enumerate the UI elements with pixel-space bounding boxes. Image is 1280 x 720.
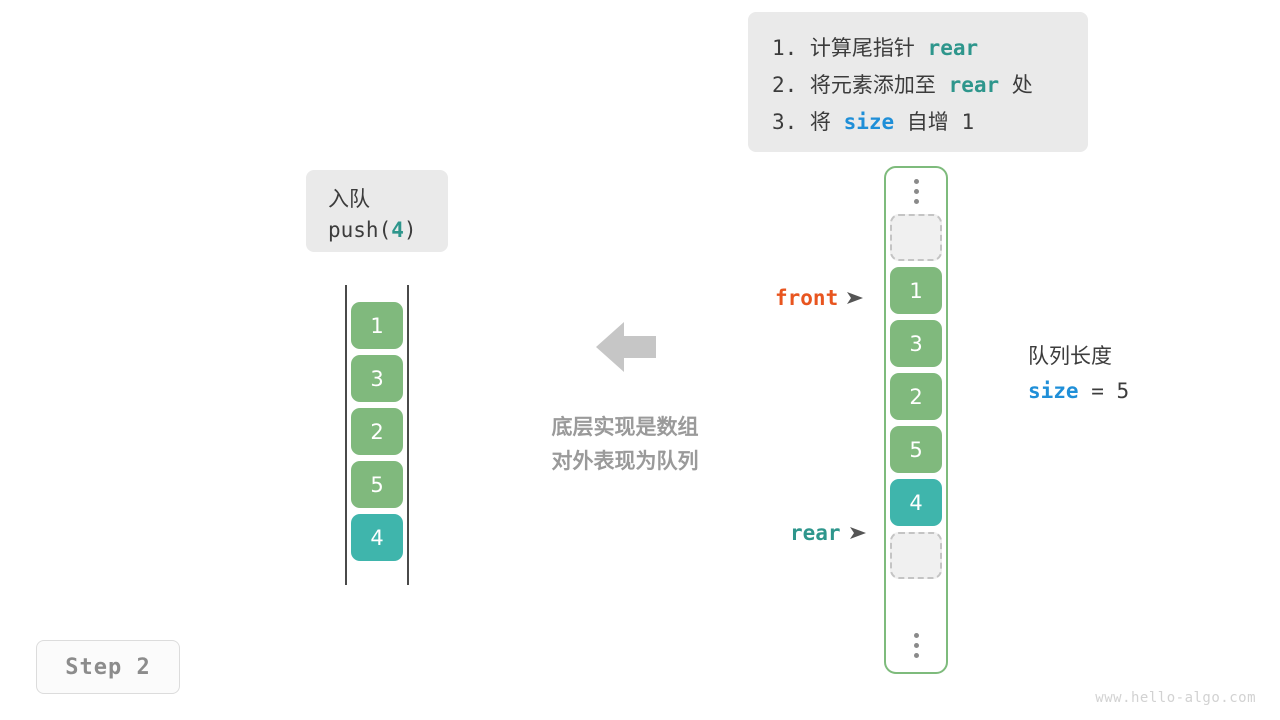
step-badge: Step 2 [36,640,180,694]
center-caption-line-2: 对外表现为队列 [510,444,740,478]
center-caption-line-1: 底层实现是数组 [510,410,740,444]
rear-pointer-label: rear [790,521,841,545]
watermark: www.hello-algo.com [1095,690,1256,706]
size-note: 队列长度 size = 5 [1028,340,1248,410]
queue-cell: 2 [351,408,403,455]
arrow-right-icon [846,291,864,305]
arrow-left-icon [596,320,656,374]
queue-rail-right [407,285,409,585]
queue-cell-new: 4 [351,514,403,561]
diagram-canvas: 1. 计算尾指针 rear 2. 将元素添加至 rear 处 3. 将 size… [0,0,1280,720]
queue-cell: 5 [351,461,403,508]
front-pointer: front [775,286,864,310]
push-panel-code: push(4) [328,214,448,246]
size-note-value: 5 [1117,379,1130,403]
instruction-line-2-keyword: rear [949,73,1000,97]
array-cell-empty [890,532,942,579]
push-panel-title: 入队 [328,184,448,214]
queue-rail-left [345,285,347,585]
instruction-line-2-suffix: 处 [999,73,1033,97]
queue-cell: 1 [351,302,403,349]
instruction-line-1-prefix: 1. 计算尾指针 [772,36,928,60]
instruction-line-1: 1. 计算尾指针 rear [772,30,1066,67]
instruction-line-1-keyword: rear [928,36,979,60]
size-note-title: 队列长度 [1028,340,1248,372]
push-code-prefix: push( [328,218,391,242]
array-cell-new: 4 [890,479,942,526]
size-note-equals: = [1079,379,1117,403]
queue-cell: 3 [351,355,403,402]
instruction-panel: 1. 计算尾指针 rear 2. 将元素添加至 rear 处 3. 将 size… [748,12,1088,152]
array-cell-empty [890,214,942,261]
instruction-line-3-suffix: 自增 1 [894,110,974,134]
size-note-expression: size = 5 [1028,372,1248,410]
front-pointer-label: front [775,286,838,310]
queue-view: 1 3 2 5 4 [345,285,409,585]
array-view: 1 3 2 5 4 [884,166,948,674]
push-operation-panel: 入队 push(4) [306,170,448,252]
instruction-line-2-prefix: 2. 将元素添加至 [772,73,949,97]
center-caption: 底层实现是数组 对外表现为队列 [510,410,740,478]
array-cell: 1 [890,267,942,314]
rear-pointer: rear [790,521,867,545]
size-note-var: size [1028,379,1079,403]
array-cell: 5 [890,426,942,473]
instruction-line-3-prefix: 3. 将 [772,110,844,134]
array-cell-list: 1 3 2 5 4 [890,214,942,585]
arrow-right-icon [849,526,867,540]
vertical-ellipsis-icon-top [886,168,946,214]
instruction-line-2: 2. 将元素添加至 rear 处 [772,67,1066,104]
array-cell: 2 [890,373,942,420]
push-code-value: 4 [391,218,404,242]
instruction-line-3: 3. 将 size 自增 1 [772,104,1066,141]
array-cell: 3 [890,320,942,367]
queue-cell-list: 1 3 2 5 4 [351,302,403,567]
instruction-line-3-keyword: size [844,110,895,134]
push-code-suffix: ) [404,218,417,242]
vertical-ellipsis-icon-bottom [886,622,946,668]
